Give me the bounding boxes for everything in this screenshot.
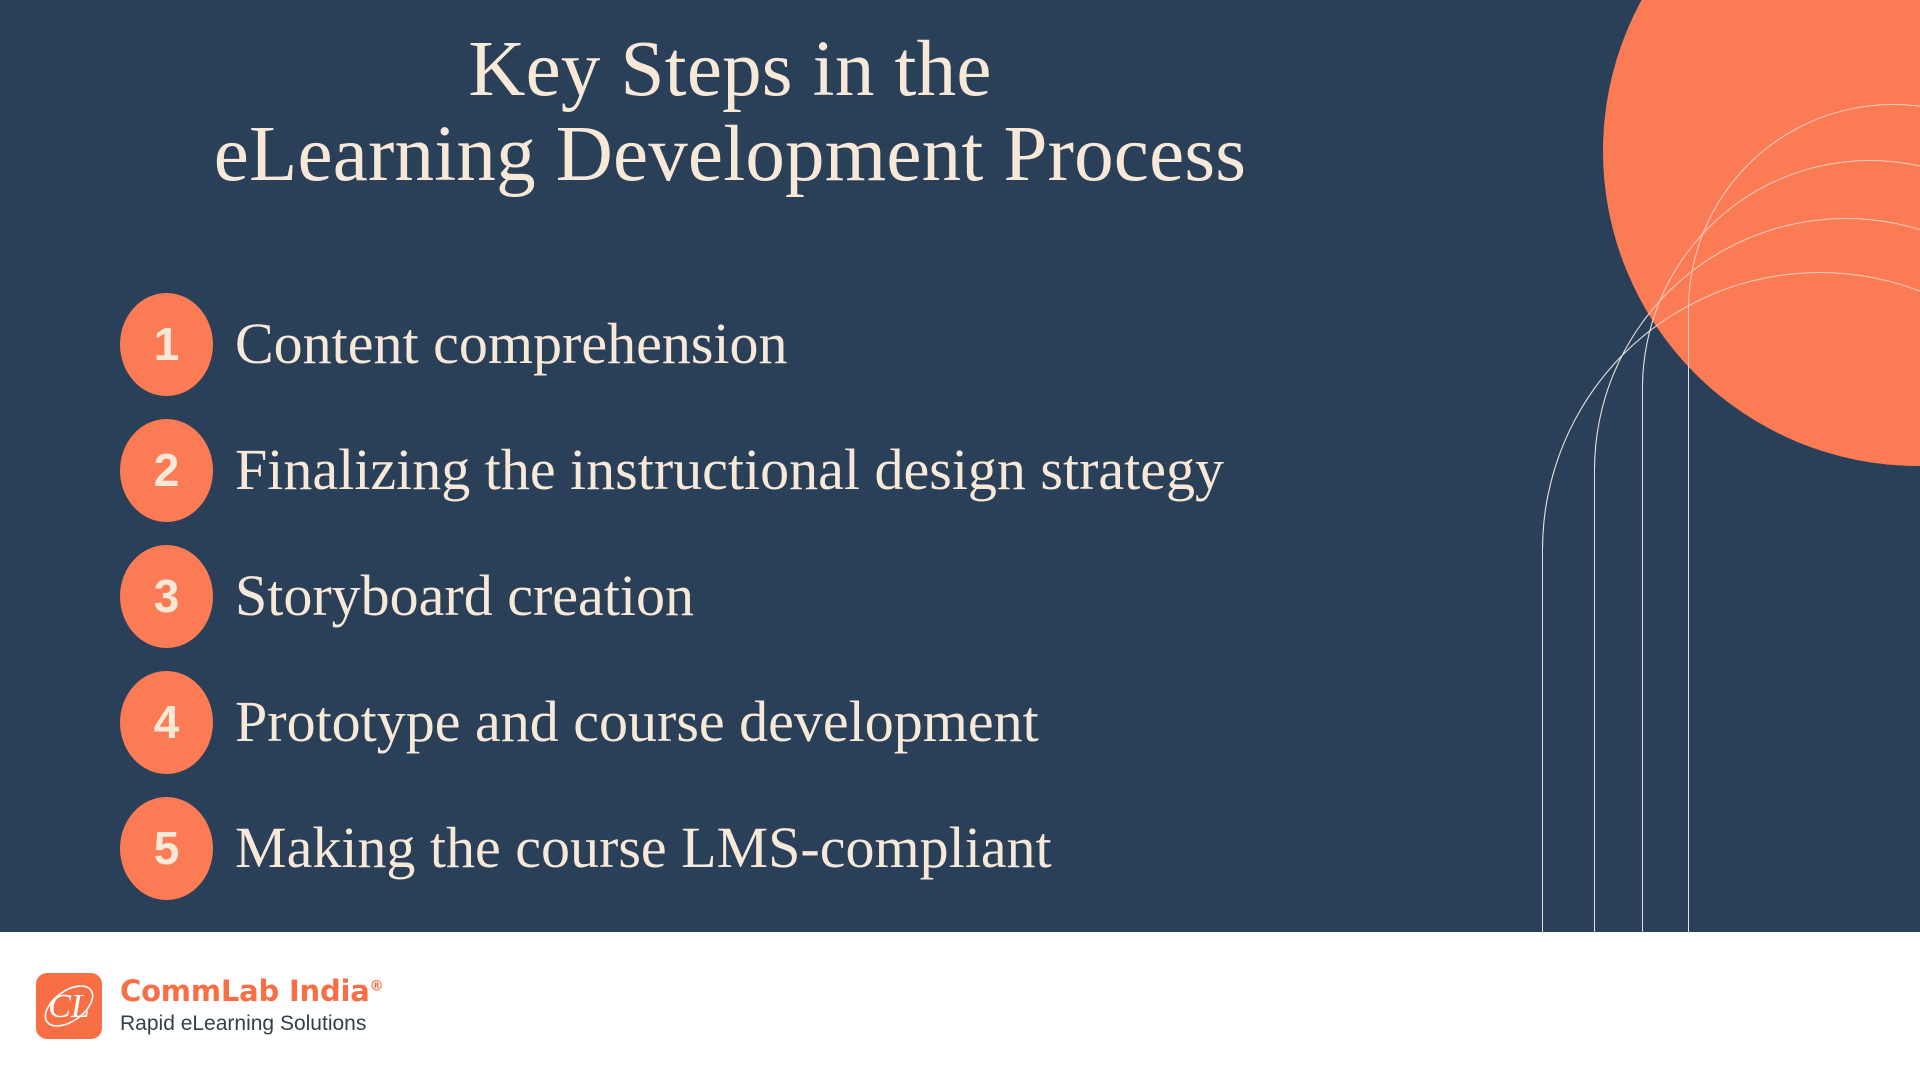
svg-text:CL: CL <box>48 988 90 1025</box>
step-number-badge-5: 5 <box>120 797 213 900</box>
list-item: 5 Making the course LMS-compliant <box>120 785 1480 911</box>
list-item: 3 Storyboard creation <box>120 533 1480 659</box>
list-item: 2 Finalizing the instructional design st… <box>120 407 1480 533</box>
step-label-2: Finalizing the instructional design stra… <box>235 441 1224 499</box>
step-number-badge-3: 3 <box>120 545 213 648</box>
page-title: Key Steps in the eLearning Development P… <box>60 28 1400 197</box>
commlab-logo[interactable]: CL CommLab India® Rapid eLearning Soluti… <box>36 973 383 1039</box>
commlab-tagline: Rapid eLearning Solutions <box>120 1011 383 1036</box>
step-number-badge-4: 4 <box>120 671 213 774</box>
decorative-arc-4-overlay <box>1688 104 1920 932</box>
registered-trademark-icon: ® <box>370 979 384 995</box>
decorative-arc-2-overlay <box>1594 218 1920 932</box>
commlab-logo-mark-icon: CL <box>36 973 102 1039</box>
decorative-arc-1-overlay <box>1542 272 1920 932</box>
decorative-arc-2 <box>1594 218 1920 932</box>
commlab-brand-name: CommLab India® <box>120 976 383 1006</box>
step-label-1: Content comprehension <box>235 315 788 373</box>
decorative-orange-circle <box>1603 0 1920 466</box>
step-label-5: Making the course LMS-compliant <box>235 819 1052 877</box>
decorative-arc-3 <box>1642 160 1920 932</box>
list-item: 4 Prototype and course development <box>120 659 1480 785</box>
footer-bar: CL CommLab India® Rapid eLearning Soluti… <box>0 932 1920 1080</box>
decorative-arc-1 <box>1542 272 1920 932</box>
step-label-3: Storyboard creation <box>235 567 694 625</box>
step-number-badge-2: 2 <box>120 419 213 522</box>
slide-root: Key Steps in the eLearning Development P… <box>0 0 1920 1080</box>
slide-body: Key Steps in the eLearning Development P… <box>0 0 1920 932</box>
commlab-logo-text: CommLab India® Rapid eLearning Solutions <box>120 976 383 1036</box>
decorative-arc-3-overlay <box>1642 160 1920 932</box>
list-item: 1 Content comprehension <box>120 281 1480 407</box>
step-label-4: Prototype and course development <box>235 693 1039 751</box>
commlab-brand-name-text: CommLab India <box>120 974 370 1008</box>
steps-list: 1 Content comprehension 2 Finalizing the… <box>120 281 1480 911</box>
decorative-arc-4 <box>1688 104 1920 932</box>
step-number-badge-1: 1 <box>120 293 213 396</box>
